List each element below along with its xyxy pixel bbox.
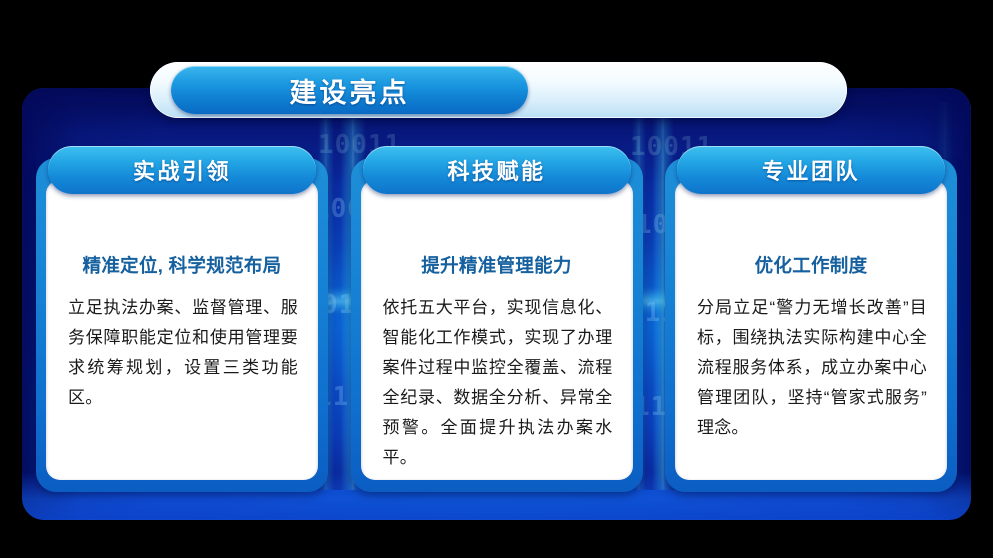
card-header: 科技赋能: [363, 146, 631, 194]
card-panel: 提升精准管理能力 依托五大平台，实现信息化、智能化工作模式，实现了办理案件过程中…: [361, 180, 633, 480]
card-body: 依托五大平台，实现信息化、智能化工作模式，实现了办理案件过程中监控全覆盖、流程全…: [383, 293, 613, 473]
card-shizhanyinling[interactable]: 精准定位, 科学规范布局 立足执法办案、监督管理、服务保障职能定位和使用管理要求…: [36, 146, 328, 492]
title-banner: 建设亮点: [171, 66, 528, 114]
card-subtitle: 提升精准管理能力: [377, 252, 617, 278]
card-kejifuneng[interactable]: 提升精准管理能力 依托五大平台，实现信息化、智能化工作模式，实现了办理案件过程中…: [351, 146, 643, 492]
card-body: 分局立足“警力无增长改善”目标，围绕执法实际构建中心全流程服务体系，成立办案中心…: [697, 293, 927, 443]
slide-canvas: 10011 1001 0111 11110 10011 1001 01110 1…: [0, 0, 993, 558]
card-subtitle: 优化工作制度: [691, 252, 931, 278]
card-panel: 优化工作制度 分局立足“警力无增长改善”目标，围绕执法实际构建中心全流程服务体系…: [675, 180, 947, 480]
card-title: 实战引领: [133, 154, 231, 186]
card-panel: 精准定位, 科学规范布局 立足执法办案、监督管理、服务保障职能定位和使用管理要求…: [46, 180, 318, 480]
card-group: 精准定位, 科学规范布局 立足执法办案、监督管理、服务保障职能定位和使用管理要求…: [36, 146, 957, 492]
card-subtitle: 精准定位, 科学规范布局: [62, 252, 302, 278]
card-header: 专业团队: [677, 146, 945, 194]
card-header: 实战引领: [48, 146, 316, 194]
card-zhuanyetuandui[interactable]: 优化工作制度 分局立足“警力无增长改善”目标，围绕执法实际构建中心全流程服务体系…: [665, 146, 957, 492]
page-title: 建设亮点: [290, 71, 410, 110]
card-title: 科技赋能: [447, 154, 545, 186]
card-body: 立足执法办案、监督管理、服务保障职能定位和使用管理要求统筹规划，设置三类功能区。: [68, 293, 298, 413]
card-title: 专业团队: [762, 154, 860, 186]
